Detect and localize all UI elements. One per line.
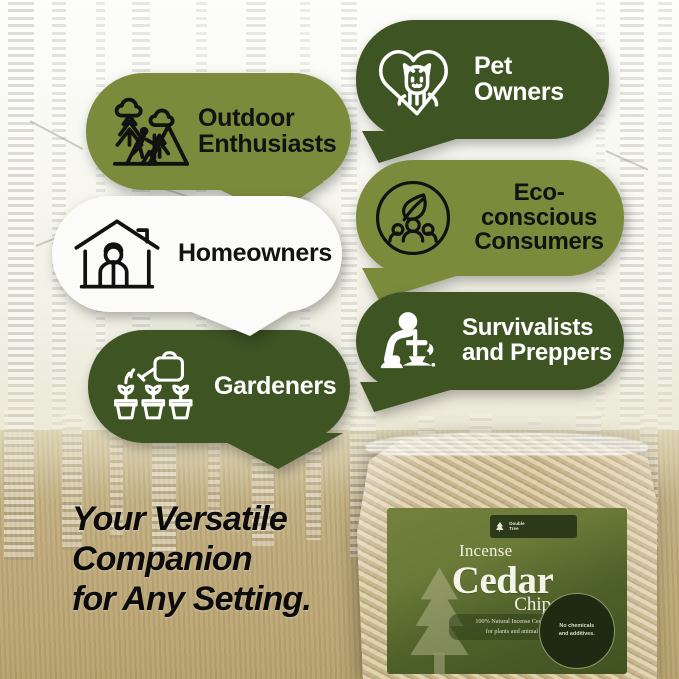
brand-name: Double Tree [509, 522, 524, 531]
house-with-person-icon [70, 216, 164, 292]
benefit-card-label: Homeowners [178, 241, 332, 267]
benefit-card-gardeners[interactable]: Gardeners [88, 330, 350, 443]
benefit-card-label: Gardeners [214, 374, 336, 400]
infographic-canvas: Outdoor Enthusiasts Homeowners [0, 0, 679, 679]
kneeling-person-campfire-icon [374, 305, 452, 377]
headline-text: Your Versatile Companion for Any Setting… [72, 500, 402, 619]
benefit-card-homeowners[interactable]: Homeowners [52, 196, 342, 312]
product-bag[interactable]: Double Tree Incense Cedar Chips 100% Nat… [357, 428, 657, 679]
camping-hiker-mountain-icon [108, 95, 194, 169]
brand-badge: Double Tree [490, 515, 576, 538]
product-label: Double Tree Incense Cedar Chips 100% Nat… [387, 508, 627, 674]
tree-logo-icon [494, 521, 506, 533]
benefit-card-label: Pet Owners [474, 54, 564, 106]
cat-in-heart-icon [374, 41, 460, 119]
bag-zipper-top [366, 433, 648, 456]
no-chemicals-badge: No chemicals and additives. [539, 593, 615, 669]
no-chemicals-badge-text: No chemicals and additives. [540, 594, 614, 668]
benefit-card-survivalists-preppers[interactable]: Survivalists and Preppers [356, 292, 624, 390]
leaf-over-people-circle-icon [374, 179, 452, 257]
benefit-card-label: Eco-conscious Consumers [464, 181, 614, 255]
benefit-card-eco-conscious-consumers[interactable]: Eco-conscious Consumers [356, 160, 624, 276]
benefit-card-label: Survivalists and Preppers [462, 316, 612, 365]
benefit-card-pet-owners[interactable]: Pet Owners [356, 20, 609, 139]
benefit-card-outdoor-enthusiasts[interactable]: Outdoor Enthusiasts [86, 73, 351, 190]
potted-plants-watering-can-icon [110, 351, 200, 423]
benefit-card-label: Outdoor Enthusiasts [198, 106, 336, 158]
